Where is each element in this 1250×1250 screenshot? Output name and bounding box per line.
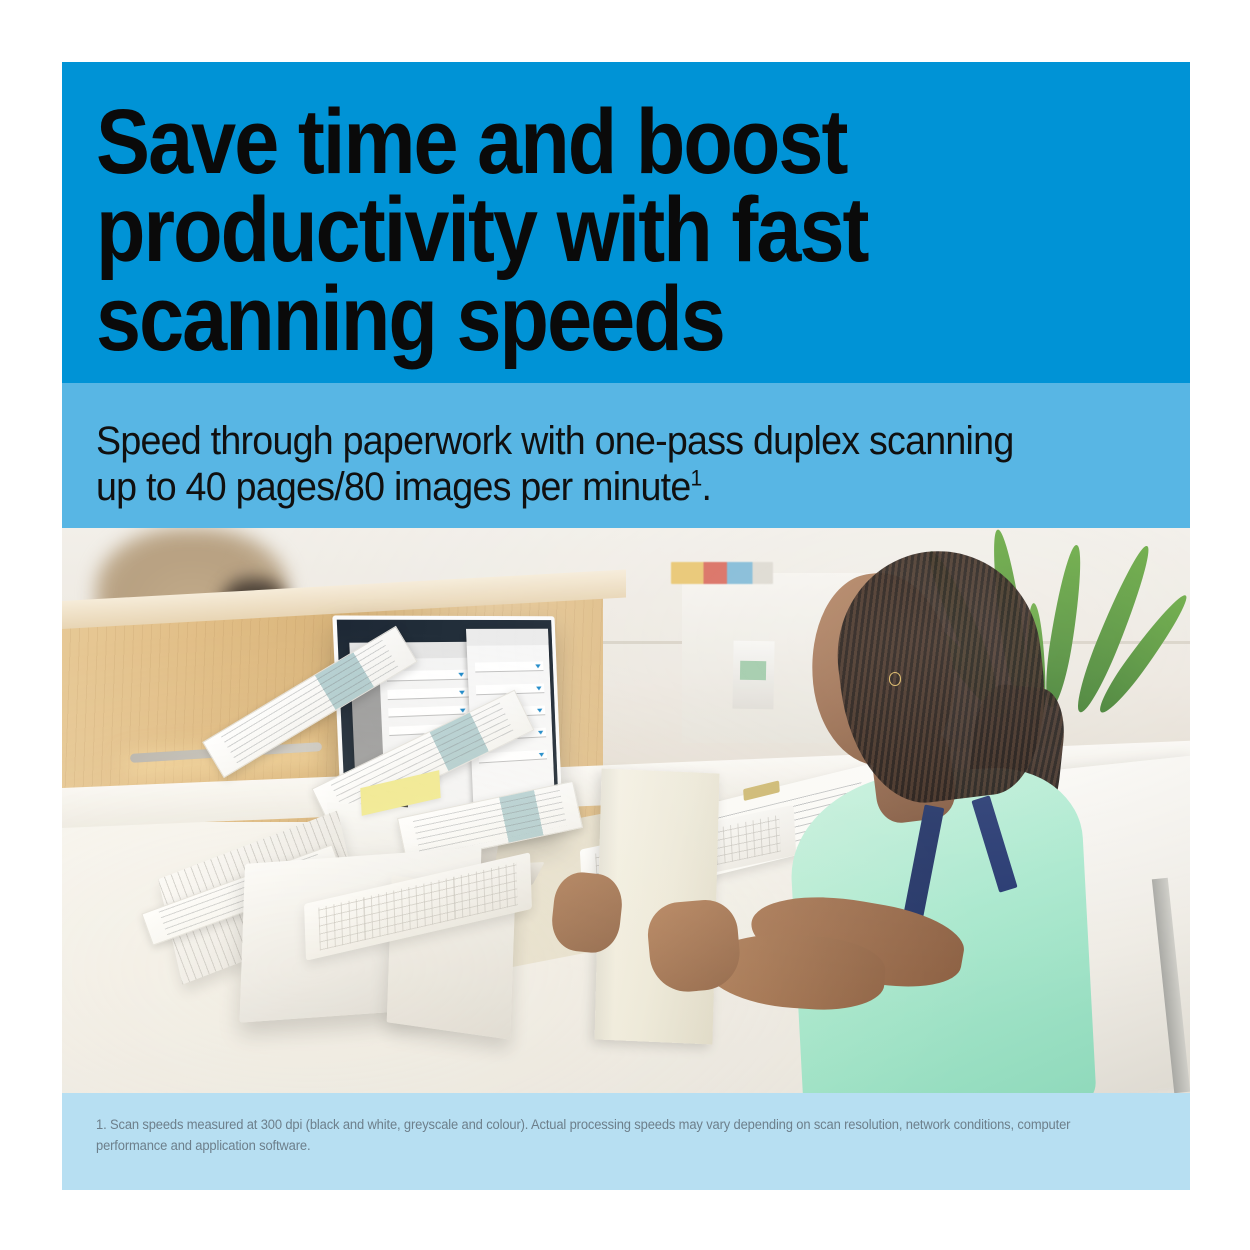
monitor-panel-field	[475, 661, 544, 672]
page-title: Save time and boost productivity with fa…	[96, 98, 1029, 363]
photo-plant-leaf	[1040, 543, 1087, 708]
footnote-band: 1. Scan speeds measured at 300 dpi (blac…	[62, 1093, 1190, 1190]
monitor-field	[389, 705, 470, 717]
monitor-field	[388, 687, 469, 699]
subhead-trailing: .	[701, 465, 711, 509]
subhead-band: Speed through paperwork with one-pass du…	[62, 383, 1190, 528]
headline-band: Save time and boost productivity with fa…	[62, 62, 1190, 383]
photo-person-earring	[889, 672, 901, 686]
promo-card: Save time and boost productivity with fa…	[62, 62, 1190, 1190]
footnote-marker: 1	[690, 465, 701, 490]
subhead-line1: Speed through paperwork with one-pass du…	[96, 419, 1013, 463]
photo-shelf-folder	[733, 641, 775, 709]
hero-photo	[62, 528, 1190, 1093]
monitor-panel-titlebar	[467, 628, 549, 645]
footnote-text: 1. Scan speeds measured at 300 dpi (blac…	[96, 1115, 1075, 1157]
photo-shelf-items	[671, 562, 773, 585]
subhead-line2: up to 40 pages/80 images per minute	[96, 465, 690, 509]
subhead-text: Speed through paperwork with one-pass du…	[96, 419, 1096, 510]
